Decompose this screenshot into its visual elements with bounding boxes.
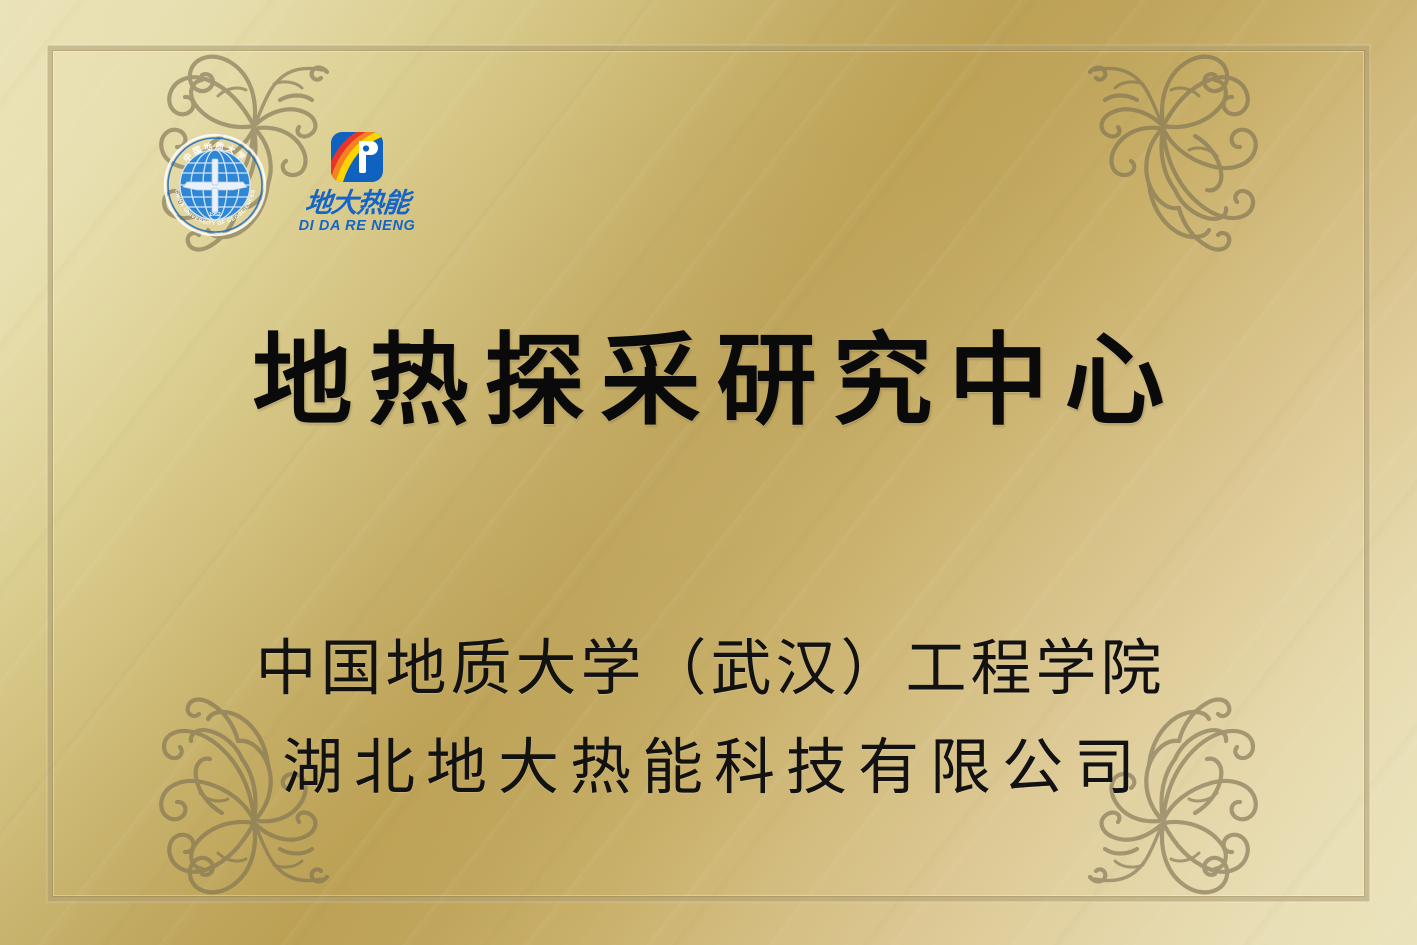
di-da-re-neng-logo: 地大热能 DI DA RE NENG [287,130,427,234]
logo-row: 中国地质大学 CHINA UNIVERSITY OF GEOSCIENCES 1… [163,133,427,237]
subtitle-line-university: 中国地质大学（武汉）工程学院 [0,620,1417,719]
svg-text:1952: 1952 [209,212,221,218]
di-da-re-neng-mark-icon [328,130,386,186]
china-university-of-geosciences-emblem-icon: 中国地质大学 CHINA UNIVERSITY OF GEOSCIENCES 1… [163,133,267,237]
subtitle-line-company: 湖北地大热能科技有限公司 [0,719,1417,818]
plaque-subtitle: 中国地质大学（武汉）工程学院 湖北地大热能科技有限公司 [0,620,1417,818]
di-da-re-neng-chinese-text: 地大热能 [304,190,411,217]
di-da-re-neng-pinyin-text: DI DA RE NENG [299,219,416,234]
plaque-title: 地热探采研究中心 [0,327,1417,435]
plaque-root: 中国地质大学 CHINA UNIVERSITY OF GEOSCIENCES 1… [0,0,1417,945]
